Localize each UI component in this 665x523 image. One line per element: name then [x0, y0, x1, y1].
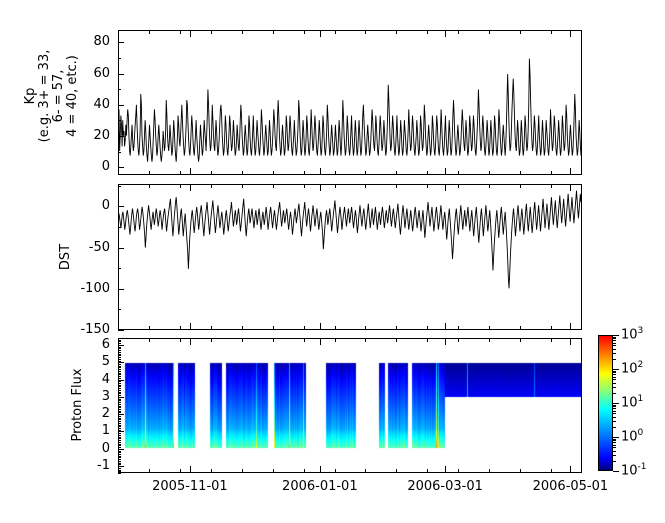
colorbar-tick-minor: [613, 359, 616, 360]
proton-flux-ytick-major: [118, 380, 124, 381]
dst-xtick-minor: [273, 185, 274, 188]
dst-xtick-minor: [335, 326, 336, 329]
dst-xtick-minor: [335, 185, 336, 188]
proton-flux-ytick-minor: [118, 388, 121, 389]
colorbar-tick-minor: [613, 413, 616, 414]
colorbar-tick-minor: [613, 340, 616, 341]
dst-xtick-minor: [551, 326, 552, 329]
proton-flux-ytick-minor: [118, 393, 121, 394]
kp-xtick-major: [445, 31, 446, 37]
dst-xtick-minor: [149, 326, 150, 329]
colorbar-tick-minor: [613, 374, 616, 375]
colorbar-tick-minor: [613, 447, 616, 448]
proton-flux-ytick-minor: [118, 416, 121, 417]
proton-flux-xtick-minor: [273, 339, 274, 342]
proton-flux-xtick-minor: [180, 469, 181, 472]
dst-ytick-label: -150: [62, 322, 110, 337]
kp-xtick-minor: [427, 31, 428, 34]
kp-xtick-major: [190, 31, 191, 37]
proton-flux-ytick-minor: [118, 456, 121, 457]
dst-ytick-label: -50: [62, 240, 110, 255]
dst-xtick-minor: [427, 185, 428, 188]
proton-flux-ytick-major: [118, 466, 124, 467]
proton-flux-ytick-major: [118, 449, 124, 450]
proton-flux-ytick-minor: [118, 385, 121, 386]
proton-flux-ytick-minor: [118, 463, 121, 464]
proton-flux-ytick-minor: [118, 444, 121, 445]
proton-flux-xtick-minor: [149, 339, 150, 342]
kp-xtick-minor: [273, 171, 274, 174]
dst-xtick-minor: [211, 185, 212, 188]
kp-xtick-minor: [551, 171, 552, 174]
colorbar-tick-minor: [613, 377, 616, 378]
colorbar-tick-minor: [613, 411, 616, 412]
dst-ytick-minor: [118, 268, 121, 269]
proton-flux-ytick-minor: [118, 404, 121, 405]
proton-flux-ytick-minor: [118, 374, 121, 375]
proton-flux-ytick-label: 2: [62, 406, 110, 421]
dst-xtick-minor: [396, 326, 397, 329]
proton-flux-xtick-minor: [520, 469, 521, 472]
dst-ytick-major: [118, 289, 124, 290]
dst-xtick-minor: [211, 326, 212, 329]
x-axis-tick-label: 2005-11-01: [140, 479, 240, 494]
kp-ytick-major: [118, 105, 124, 106]
dst-xtick-minor: [458, 185, 459, 188]
proton-flux-ytick-minor: [118, 421, 121, 422]
colorbar-tick-major: [613, 437, 619, 438]
proton-flux-ytick-minor: [118, 367, 121, 368]
colorbar-tick-minor: [613, 379, 616, 380]
proton-flux-xtick-minor: [304, 469, 305, 472]
colorbar-tick-minor: [613, 405, 616, 406]
dst-ytick-major: [118, 206, 124, 207]
figure-canvas: Kp (e.g. 3+ = 33, 6- = 57, 4 = 40, etc.)…: [0, 0, 665, 523]
dst-ytick-label: -100: [62, 281, 110, 296]
proton-flux-xtick-minor: [304, 339, 305, 342]
proton-flux-ytick-minor: [118, 461, 121, 462]
kp-xtick-major: [320, 168, 321, 174]
colorbar-tick-major: [613, 471, 619, 472]
dst-ytick-minor: [118, 186, 121, 187]
colorbar-tick-minor: [613, 445, 616, 446]
proton-flux-colorbar: [598, 335, 613, 471]
kp-xtick-minor: [365, 31, 366, 34]
dst-xtick-minor: [180, 185, 181, 188]
proton-flux-ytick-minor: [118, 390, 121, 391]
proton-flux-ytick-minor: [118, 437, 121, 438]
panel-dst: [118, 184, 582, 330]
colorbar-tick-minor: [613, 353, 616, 354]
proton-flux-xtick-minor: [242, 339, 243, 342]
dst-xtick-minor: [180, 326, 181, 329]
kp-xtick-minor: [273, 31, 274, 34]
proton-flux-ytick-minor: [118, 473, 121, 474]
dst-xtick-major: [320, 185, 321, 191]
colorbar-tick-minor: [613, 442, 616, 443]
dst-xtick-minor: [427, 326, 428, 329]
x-axis-tick-label: 2006-05-01: [520, 479, 620, 494]
proton-flux-ytick-minor: [118, 457, 121, 458]
proton-flux-ytick-minor: [118, 440, 121, 441]
dst-trace-area: [119, 185, 581, 329]
colorbar-tick-minor: [613, 349, 616, 350]
colorbar-tick-major: [613, 403, 619, 404]
kp-ytick-label: 60: [62, 66, 110, 81]
kp-trace-area: [119, 31, 581, 174]
kp-ylabel-line-2: (e.g. 3+ = 33,: [38, 16, 52, 176]
kp-ytick-minor: [118, 58, 121, 59]
proton-flux-xtick-minor: [365, 339, 366, 342]
proton-flux-ytick-minor: [118, 386, 121, 387]
proton-flux-ytick-minor: [118, 400, 121, 401]
proton-flux-ytick-minor: [118, 341, 121, 342]
x-axis-tick-label: 2006-03-01: [395, 479, 495, 494]
dst-xtick-minor: [551, 185, 552, 188]
kp-ytick-major: [118, 167, 124, 168]
kp-xtick-minor: [396, 171, 397, 174]
panel-proton-flux: [118, 338, 582, 473]
dst-ytick-minor: [118, 309, 121, 310]
x-axis-tick-label: 2006-01-01: [270, 479, 370, 494]
kp-xtick-minor: [489, 31, 490, 34]
proton-flux-xtick-minor: [551, 469, 552, 472]
proton-flux-ytick-label: 6: [62, 337, 110, 352]
kp-xtick-minor: [520, 31, 521, 34]
proton-flux-ytick-minor: [118, 352, 121, 353]
proton-flux-xtick-minor: [551, 339, 552, 342]
dst-xtick-minor: [365, 185, 366, 188]
proton-flux-xtick-minor: [520, 339, 521, 342]
proton-flux-ytick-minor: [118, 409, 121, 410]
proton-flux-xtick-major: [445, 466, 446, 472]
panel-kp: [118, 30, 582, 175]
proton-flux-ytick-minor: [118, 359, 121, 360]
kp-ytick-major: [118, 74, 124, 75]
proton-flux-ytick-minor: [118, 371, 121, 372]
proton-flux-ytick-minor: [118, 452, 121, 453]
proton-flux-ytick-minor: [118, 454, 121, 455]
proton-flux-xtick-minor: [149, 469, 150, 472]
kp-xtick-major: [320, 31, 321, 37]
kp-xtick-major: [445, 168, 446, 174]
proton-flux-xtick-minor: [211, 339, 212, 342]
kp-series-line: [119, 59, 581, 162]
dst-ytick-minor: [118, 227, 121, 228]
proton-flux-xtick-minor: [396, 339, 397, 342]
colorbar-tick-label: 100: [621, 428, 643, 444]
kp-ytick-major: [118, 42, 124, 43]
kp-xtick-minor: [242, 171, 243, 174]
kp-xtick-minor: [551, 31, 552, 34]
kp-xtick-minor: [242, 31, 243, 34]
proton-flux-ytick-minor: [118, 442, 121, 443]
dst-xtick-minor: [304, 326, 305, 329]
proton-flux-xtick-minor: [489, 339, 490, 342]
proton-flux-ytick-minor: [118, 407, 121, 408]
proton-flux-ytick-minor: [118, 426, 121, 427]
proton-flux-ytick-minor: [118, 423, 121, 424]
proton-flux-ytick-minor: [118, 383, 121, 384]
colorbar-tick-minor: [613, 451, 616, 452]
kp-xtick-minor: [180, 31, 181, 34]
kp-xtick-minor: [520, 171, 521, 174]
kp-xtick-major: [190, 168, 191, 174]
proton-flux-ytick-label: 5: [62, 354, 110, 369]
dst-xtick-minor: [242, 326, 243, 329]
kp-xtick-minor: [427, 171, 428, 174]
dst-xtick-minor: [458, 326, 459, 329]
proton-flux-xtick-minor: [396, 469, 397, 472]
proton-flux-spectrogram: [119, 339, 581, 472]
kp-ytick-label: 80: [62, 34, 110, 49]
proton-flux-ytick-label: 4: [62, 372, 110, 387]
dst-xtick-major: [445, 185, 446, 191]
dst-xtick-minor: [149, 185, 150, 188]
colorbar-tick-minor: [613, 461, 616, 462]
colorbar-tick-minor: [613, 338, 616, 339]
proton-flux-heatmap-area: [119, 339, 581, 472]
dst-xtick-minor: [489, 185, 490, 188]
dst-xtick-major: [190, 185, 191, 191]
proton-flux-ytick-minor: [118, 347, 121, 348]
kp-ylabel-line-1: Kp: [24, 16, 38, 176]
proton-flux-xtick-major: [320, 466, 321, 472]
proton-flux-xtick-minor: [273, 469, 274, 472]
proton-flux-xtick-minor: [335, 339, 336, 342]
dst-series-line: [119, 191, 581, 289]
colorbar-tick-label: 103: [621, 326, 643, 342]
proton-flux-ytick-minor: [118, 445, 121, 446]
proton-flux-ytick-minor: [118, 419, 121, 420]
colorbar-tick-label: 10-1: [621, 462, 647, 478]
colorbar-tick-minor: [613, 455, 616, 456]
proton-flux-xtick-minor: [365, 469, 366, 472]
proton-flux-ytick-minor: [118, 350, 121, 351]
proton-flux-ytick-minor: [118, 354, 121, 355]
kp-ytick-label: 0: [62, 159, 110, 174]
proton-flux-ytick-minor: [118, 366, 121, 367]
colorbar-tick-minor: [613, 371, 616, 372]
colorbar-tick-minor: [613, 427, 616, 428]
proton-flux-ytick-label: 0: [62, 441, 110, 456]
dst-ylabel-text: DST: [59, 227, 73, 287]
proton-flux-ytick-minor: [118, 364, 121, 365]
dst-xtick-minor: [489, 326, 490, 329]
colorbar-tick-label: 101: [621, 394, 643, 410]
colorbar-tick-major: [613, 369, 619, 370]
proton-flux-ytick-minor: [118, 428, 121, 429]
proton-flux-ytick-minor: [118, 355, 121, 356]
kp-xtick-minor: [304, 31, 305, 34]
colorbar-tick-minor: [613, 406, 616, 407]
colorbar-tick-major: [613, 335, 619, 336]
kp-xtick-minor: [149, 31, 150, 34]
proton-flux-ytick-label: 1: [62, 423, 110, 438]
proton-flux-xtick-major: [190, 339, 191, 345]
proton-flux-ytick-label: -1: [62, 458, 110, 473]
proton-flux-ytick-major: [118, 362, 124, 363]
proton-flux-xtick-minor: [489, 469, 490, 472]
proton-flux-xtick-minor: [458, 469, 459, 472]
colorbar-tick-minor: [613, 417, 616, 418]
proton-flux-xtick-major: [445, 339, 446, 345]
kp-xtick-major: [570, 168, 571, 174]
proton-flux-xtick-minor: [180, 339, 181, 342]
proton-flux-ytick-minor: [118, 376, 121, 377]
dst-xtick-minor: [365, 326, 366, 329]
proton-flux-ytick-minor: [118, 418, 121, 419]
colorbar-tick-minor: [613, 421, 616, 422]
kp-xtick-minor: [149, 171, 150, 174]
proton-flux-xtick-major: [320, 339, 321, 345]
kp-xtick-minor: [180, 171, 181, 174]
kp-ytick-minor: [118, 120, 121, 121]
dst-ytick-major: [118, 248, 124, 249]
kp-ytick-label: 40: [62, 97, 110, 112]
kp-ytick-label: 20: [62, 128, 110, 143]
dst-xtick-major: [320, 323, 321, 329]
dst-xtick-major: [570, 185, 571, 191]
proton-flux-ytick-minor: [118, 348, 121, 349]
proton-flux-ytick-minor: [118, 399, 121, 400]
proton-flux-ytick-major: [118, 397, 124, 398]
proton-flux-ytick-minor: [118, 381, 121, 382]
kp-xtick-minor: [211, 31, 212, 34]
colorbar-tick-minor: [613, 383, 616, 384]
dst-xtick-major: [190, 323, 191, 329]
proton-flux-xtick-minor: [427, 339, 428, 342]
proton-flux-ytick-major: [118, 414, 124, 415]
proton-flux-ytick-major: [118, 345, 124, 346]
kp-xtick-minor: [304, 171, 305, 174]
dst-xtick-minor: [520, 326, 521, 329]
proton-flux-xtick-major: [570, 339, 571, 345]
proton-flux-ytick-minor: [118, 411, 121, 412]
dst-xtick-major: [445, 323, 446, 329]
kp-xtick-minor: [335, 171, 336, 174]
colorbar-tick-minor: [613, 440, 616, 441]
dst-xtick-minor: [273, 326, 274, 329]
dst-xtick-minor: [396, 185, 397, 188]
proton-flux-ytick-minor: [118, 357, 121, 358]
proton-flux-ytick-minor: [118, 425, 121, 426]
dst-xtick-minor: [520, 185, 521, 188]
proton-flux-ytick-minor: [118, 438, 121, 439]
colorbar-tick-minor: [613, 372, 616, 373]
proton-flux-xtick-minor: [211, 469, 212, 472]
kp-xtick-minor: [458, 171, 459, 174]
proton-flux-ytick-minor: [118, 340, 121, 341]
dst-ytick-major: [118, 330, 124, 331]
proton-flux-ytick-minor: [118, 369, 121, 370]
proton-flux-ytick-minor: [118, 451, 121, 452]
proton-flux-xtick-minor: [335, 469, 336, 472]
kp-xtick-major: [570, 31, 571, 37]
proton-flux-ytick-minor: [118, 406, 121, 407]
proton-flux-xtick-minor: [458, 339, 459, 342]
kp-xtick-minor: [335, 31, 336, 34]
colorbar-tick-minor: [613, 343, 616, 344]
colorbar-tick-minor: [613, 337, 616, 338]
proton-flux-xtick-major: [570, 466, 571, 472]
dst-ytick-label: 0: [62, 198, 110, 213]
kp-xtick-minor: [489, 171, 490, 174]
proton-flux-ytick-minor: [118, 338, 121, 339]
proton-flux-ytick-minor: [118, 373, 121, 374]
proton-flux-xtick-major: [190, 466, 191, 472]
proton-flux-xtick-minor: [427, 469, 428, 472]
colorbar-tick-minor: [613, 345, 616, 346]
panel-dst-ylabel: DST: [59, 227, 73, 287]
kp-xtick-minor: [365, 171, 366, 174]
proton-flux-ytick-minor: [118, 435, 121, 436]
kp-xtick-minor: [211, 171, 212, 174]
colorbar-tick-minor: [613, 387, 616, 388]
proton-flux-ytick-minor: [118, 392, 121, 393]
dst-xtick-minor: [242, 185, 243, 188]
proton-flux-ytick-minor: [118, 459, 121, 460]
colorbar-tick-minor: [613, 408, 616, 409]
kp-ytick-minor: [118, 89, 121, 90]
dst-xtick-major: [570, 323, 571, 329]
proton-flux-ytick-label: 3: [62, 389, 110, 404]
kp-ytick-minor: [118, 152, 121, 153]
colorbar-tick-minor: [613, 393, 616, 394]
kp-xtick-minor: [396, 31, 397, 34]
proton-flux-ytick-major: [118, 431, 124, 432]
colorbar-tick-label: 102: [621, 360, 643, 376]
proton-flux-ytick-minor: [118, 402, 121, 403]
proton-flux-ytick-minor: [118, 433, 121, 434]
dst-xtick-minor: [304, 185, 305, 188]
proton-flux-xtick-minor: [242, 469, 243, 472]
kp-xtick-minor: [458, 31, 459, 34]
colorbar-tick-minor: [613, 439, 616, 440]
kp-ytick-major: [118, 136, 124, 137]
